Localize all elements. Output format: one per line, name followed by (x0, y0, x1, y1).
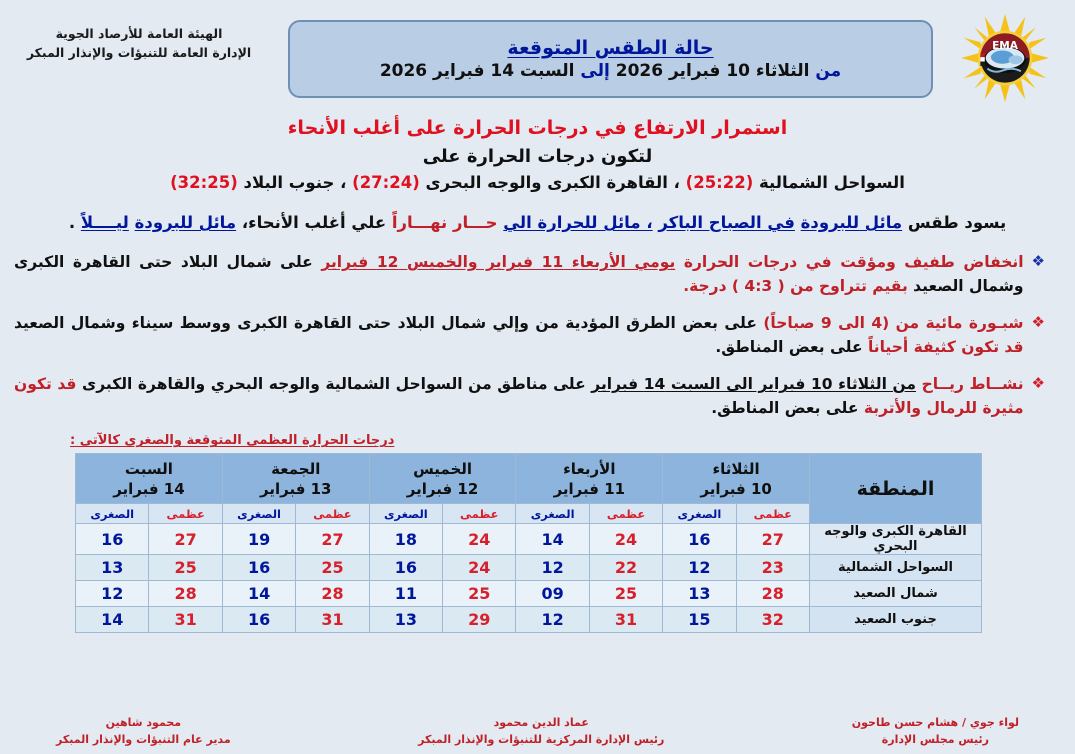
date-from-label: من (815, 61, 841, 81)
bullet-segment: انخفاض طفيف ومؤقت في درجات الحرارة (675, 253, 1023, 271)
subheader-max-2: عظمى (443, 504, 516, 524)
bullet-segment: على بعض المناطق. (715, 338, 868, 356)
range-cairo-delta-value: (27:24) (352, 173, 420, 192)
subheader-max-0: عظمى (736, 504, 809, 524)
forecast-table: المنطقة الثلاثاء 10 فبراير الأربعاء 11 ف… (75, 453, 982, 633)
subheader-max-4: عظمى (149, 504, 222, 524)
bullet-text: شبـورة مائية من (4 الى 9 صباحاً) على بعض… (14, 311, 1024, 359)
cell-min: 16 (222, 555, 295, 581)
lead-seg-5: حـــار نهـــاراً (392, 213, 498, 232)
cell-min: 14 (222, 581, 295, 607)
cell-min: 12 (76, 581, 149, 607)
bullet-segment: بقيم تتراوح من ( 4:3 ) درجة. (683, 277, 908, 295)
lead-seg-6: علي أغلب الأنحاء، (242, 213, 386, 232)
cell-max: 24 (443, 555, 516, 581)
signature-left: لواء جوي / هشام حسن طاحون رئيس مجلس الإد… (852, 715, 1019, 748)
headline-primary: استمرار الارتفاع في درجات الحرارة على أغ… (0, 114, 1075, 143)
day-name: السبت (76, 459, 222, 479)
bullet-segment: شبـورة مائية من (4 الى 9 صباحاً) (763, 314, 1023, 332)
column-header-region: المنطقة (810, 454, 982, 524)
lead-seg-3: في الصباح الباكر (658, 213, 795, 232)
cell-max: 25 (149, 555, 222, 581)
date-to-label: إلى (580, 61, 609, 81)
row-region-label: القاهرة الكبرى والوجه البحري (810, 524, 982, 555)
organization-name: الهيئة العامة للأرصاد الجوية الإدارة الع… (14, 12, 264, 63)
range-cairo-delta-label: ، القاهرة الكبرى والوجه البحرى (426, 173, 680, 192)
cell-min: 12 (516, 555, 589, 581)
cell-max: 31 (589, 607, 662, 633)
cell-min: 16 (663, 524, 736, 555)
day-date: 10 فبراير (663, 479, 809, 499)
signature-role: رئيس مجلس الإدارة (852, 732, 1019, 749)
cell-min: 15 (663, 607, 736, 633)
forecast-title-box: حالة الطقس المتوقعة من الثلاثاء 10 فبراي… (288, 20, 933, 98)
range-south-label: ، جنوب البلاد (243, 173, 346, 192)
lead-seg-9: . (69, 213, 75, 232)
bullet-diamond-icon: ❖ (1032, 250, 1045, 273)
cell-max: 31 (149, 607, 222, 633)
bullet-item-wind: ❖ نشــاط ريــاح من الثلاثاء 10 فبراير ال… (14, 372, 1045, 420)
bullet-segment: على بعض المناطق. (711, 399, 864, 417)
bullet-segment: على بعض الطرق المؤدية من وإلي شمال البلا… (14, 314, 763, 332)
cell-max: 28 (296, 581, 369, 607)
signature-role: رئيس الإدارة المركزية للتنبؤات والإنذار … (418, 732, 664, 749)
subheader-min-0: الصغرى (663, 504, 736, 524)
lead-seg-1: يسود طقس (908, 213, 1006, 232)
page-title: حالة الطقس المتوقعة (507, 37, 713, 59)
cell-max: 22 (589, 555, 662, 581)
bullet-segment: يومي الأربعاء 11 فبراير والخميس 12 فبراي… (321, 253, 675, 271)
bullet-segment: نشــاط ريــاح (916, 375, 1024, 393)
cell-max: 24 (589, 524, 662, 555)
signature-name: لواء جوي / هشام حسن طاحون (852, 715, 1019, 732)
svg-text:EMA: EMA (992, 40, 1019, 52)
bullet-segment: قد تكون كثيفة أحياناً (868, 338, 1024, 356)
signature-role: مدير عام التنبؤات والإنذار المبكر (56, 732, 231, 749)
signature-center: عماد الدين محمود رئيس الإدارة المركزية ل… (418, 715, 664, 748)
bullet-text: نشــاط ريــاح من الثلاثاء 10 فبراير الى … (14, 372, 1024, 420)
row-region-label: السواحل الشمالية (810, 555, 982, 581)
cell-max: 25 (589, 581, 662, 607)
subheader-min-4: الصغرى (76, 504, 149, 524)
cell-min: 12 (516, 607, 589, 633)
bullet-list: ❖ انخفاض طفيف ومؤقت في درجات الحرارة يوم… (14, 250, 1045, 420)
org-line-1: الهيئة العامة للأرصاد الجوية (14, 24, 264, 43)
range-north-coast-label: السواحل الشمالية (759, 173, 905, 192)
cell-max: 23 (736, 555, 809, 581)
cell-max: 27 (149, 524, 222, 555)
row-region-label: شمال الصعيد (810, 581, 982, 607)
lead-seg-7: مائل للبرودة (135, 213, 236, 232)
lead-seg-8: ليــــلاً (81, 213, 129, 232)
day-name: الخميس (370, 459, 516, 479)
day-date: 11 فبراير (516, 479, 662, 499)
bullet-diamond-icon: ❖ (1032, 372, 1045, 395)
column-header-day-2: الخميس 12 فبراير (369, 454, 516, 504)
bullet-segment: من الثلاثاء 10 فبراير الى السبت 14 فبراي… (591, 375, 916, 393)
headline-secondary: لتكون درجات الحرارة على (0, 143, 1075, 170)
date-end: السبت 14 فبراير 2026 (380, 61, 575, 81)
cell-min: 13 (76, 555, 149, 581)
lead-seg-2: مائل للبرودة (801, 213, 902, 232)
table-head: المنطقة الثلاثاء 10 فبراير الأربعاء 11 ف… (76, 454, 982, 524)
subheader-max-3: عظمى (296, 504, 369, 524)
cell-min: 09 (516, 581, 589, 607)
page-header: EMA حالة الطقس المتوقعة من الثلاثاء 10 ف… (0, 0, 1075, 110)
cell-min: 18 (369, 524, 442, 555)
cell-max: 31 (296, 607, 369, 633)
signature-right: محمود شاهين مدير عام التنبؤات والإنذار ا… (56, 715, 231, 748)
signature-name: محمود شاهين (56, 715, 231, 732)
table-row: القاهرة الكبرى والوجه البحري 27 16 24 14… (76, 524, 982, 555)
cell-max: 29 (443, 607, 516, 633)
cell-min: 11 (369, 581, 442, 607)
column-header-day-4: السبت 14 فبراير (76, 454, 223, 504)
day-date: 13 فبراير (223, 479, 369, 499)
date-range: من الثلاثاء 10 فبراير 2026 إلى السبت 14 … (380, 61, 841, 81)
cell-max: 27 (736, 524, 809, 555)
cell-min: 16 (222, 607, 295, 633)
lead-paragraph: يسود طقس مائل للبرودة في الصباح الباكر ،… (22, 210, 1053, 236)
date-start: الثلاثاء 10 فبراير 2026 (616, 61, 810, 81)
cell-min: 16 (369, 555, 442, 581)
org-line-2: الإدارة العامة للتنبؤات والإنذار المبكر (14, 43, 264, 62)
bullet-segment: على مناطق من السواحل الشمالية والوجه الب… (76, 375, 591, 393)
column-header-day-0: الثلاثاء 10 فبراير (663, 454, 810, 504)
cell-max: 25 (296, 555, 369, 581)
table-row: جنوب الصعيد 32 15 31 12 29 13 31 16 31 1… (76, 607, 982, 633)
table-row: شمال الصعيد 28 13 25 09 25 11 28 14 28 1… (76, 581, 982, 607)
cell-max: 25 (443, 581, 516, 607)
column-header-day-3: الجمعة 13 فبراير (222, 454, 369, 504)
cell-max: 28 (149, 581, 222, 607)
ema-logo-icon: EMA (959, 14, 1051, 102)
cell-max: 24 (443, 524, 516, 555)
subheader-min-1: الصغرى (516, 504, 589, 524)
bullet-diamond-icon: ❖ (1032, 311, 1045, 334)
page-footer: لواء جوي / هشام حسن طاحون رئيس مجلس الإد… (0, 715, 1075, 748)
cell-max: 32 (736, 607, 809, 633)
range-north-coast-value: (25:22) (686, 173, 754, 192)
headline-ranges: السواحل الشمالية (25:22) ، القاهرة الكبر… (0, 170, 1075, 196)
cell-min: 13 (369, 607, 442, 633)
cell-min: 19 (222, 524, 295, 555)
table-caption: درجات الحرارة العظمى المتوقعة والصغرى كا… (70, 433, 1075, 448)
cell-min: 14 (76, 607, 149, 633)
table-body: القاهرة الكبرى والوجه البحري 27 16 24 14… (76, 524, 982, 633)
subheader-max-1: عظمى (589, 504, 662, 524)
day-date: 12 فبراير (370, 479, 516, 499)
bullet-text: انخفاض طفيف ومؤقت في درجات الحرارة يومي … (14, 250, 1024, 298)
range-south-value: (32:25) (170, 173, 238, 192)
bullet-item-fog: ❖ شبـورة مائية من (4 الى 9 صباحاً) على ب… (14, 311, 1045, 359)
table-header-days-row: المنطقة الثلاثاء 10 فبراير الأربعاء 11 ف… (76, 454, 982, 504)
cell-max: 27 (296, 524, 369, 555)
subheader-min-3: الصغرى (222, 504, 295, 524)
cell-max: 28 (736, 581, 809, 607)
lead-seg-4: ، مائل للحرارة الي (503, 213, 652, 232)
subheader-min-2: الصغرى (369, 504, 442, 524)
cell-min: 16 (76, 524, 149, 555)
forecast-table-wrapper: المنطقة الثلاثاء 10 فبراير الأربعاء 11 ف… (0, 453, 1075, 633)
logo-container: EMA (951, 12, 1061, 104)
day-date: 14 فبراير (76, 479, 222, 499)
headline-block: استمرار الارتفاع في درجات الحرارة على أغ… (0, 114, 1075, 196)
cell-min: 13 (663, 581, 736, 607)
signature-name: عماد الدين محمود (418, 715, 664, 732)
bullet-item-temperature-drop: ❖ انخفاض طفيف ومؤقت في درجات الحرارة يوم… (14, 250, 1045, 298)
day-name: الأربعاء (516, 459, 662, 479)
row-region-label: جنوب الصعيد (810, 607, 982, 633)
cell-min: 12 (663, 555, 736, 581)
day-name: الثلاثاء (663, 459, 809, 479)
column-header-day-1: الأربعاء 11 فبراير (516, 454, 663, 504)
cell-min: 14 (516, 524, 589, 555)
day-name: الجمعة (223, 459, 369, 479)
table-row: السواحل الشمالية 23 12 22 12 24 16 25 16… (76, 555, 982, 581)
